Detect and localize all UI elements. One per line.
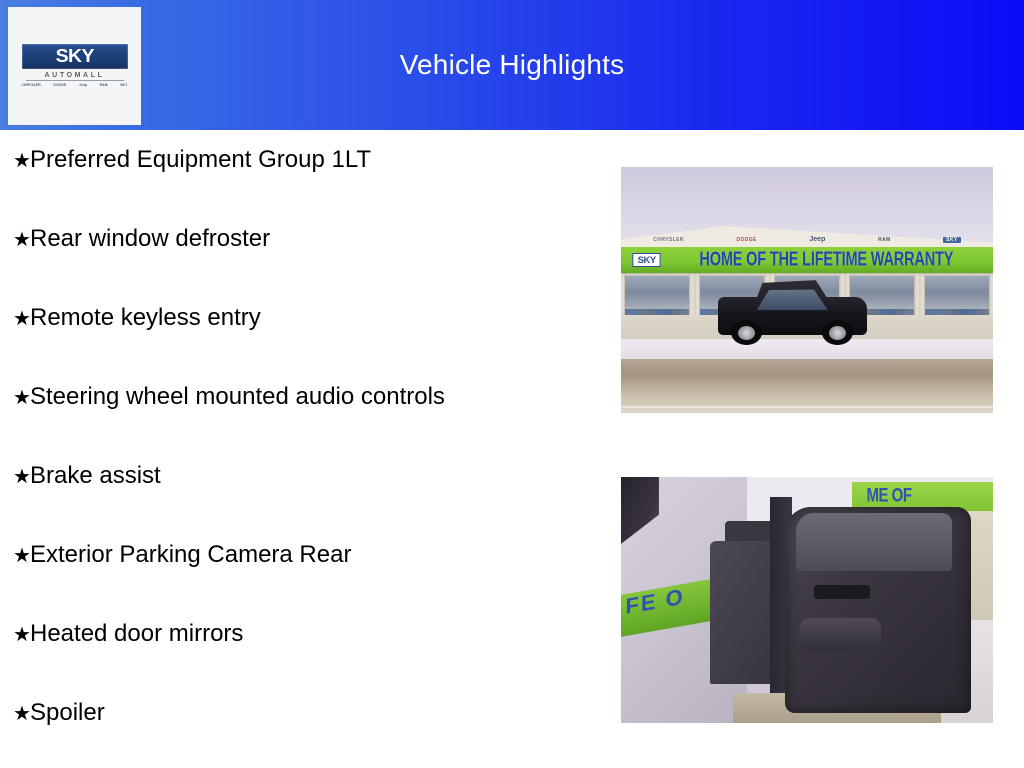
photo-warranty-banner: SKY HOME OF THE LIFETIME WARRANTY: [621, 247, 993, 273]
page-title: Vehicle Highlights: [0, 48, 1024, 82]
showroom-window: [624, 275, 690, 314]
photo-brand-dodge: DODGE: [736, 237, 756, 243]
interior-open-rear-door: [785, 507, 971, 714]
list-item: ★ Rear window defroster: [0, 225, 600, 304]
star-icon: ★: [0, 700, 30, 728]
logo-brand-chrysler: CHRYSLER: [22, 83, 41, 88]
list-item-label: Heated door mirrors: [30, 620, 243, 648]
highlights-list: ★ Preferred Equipment Group 1LT ★ Rear w…: [0, 146, 600, 768]
photo-brand-ram: RAM: [878, 237, 891, 243]
logo-subtitle: AUTOMALL: [22, 72, 128, 79]
logo-sky-text: SKY: [55, 46, 93, 67]
interior-door-handle: [814, 585, 870, 599]
list-item: ★ Steering wheel mounted audio controls: [0, 383, 600, 462]
photo-brand-row: CHRYSLER DODGE Jeep RAM SKY: [621, 232, 993, 247]
star-icon: ★: [0, 621, 30, 649]
vehicle-wheel-front: [731, 320, 762, 345]
list-item: ★ Brake assist: [0, 462, 600, 541]
list-item-label: Steering wheel mounted audio controls: [30, 383, 445, 411]
logo-brand-jeep: Jeep: [79, 83, 87, 88]
banner-sky-logo: SKY: [632, 253, 661, 267]
list-item: ★ Heated door mirrors: [0, 620, 600, 699]
vehicle-photo-interior: ME OF FE O: [621, 477, 993, 723]
banner-text: HOME OF THE LIFETIME WARRANTY: [665, 248, 988, 271]
interior-banner-far-text: ME OF: [867, 484, 912, 506]
photo-brand-chrysler: CHRYSLER: [653, 237, 684, 243]
list-item-label: Rear window defroster: [30, 225, 270, 253]
logo-brand-sky: SKY: [120, 83, 127, 88]
list-item: ★ Remote keyless entry: [0, 304, 600, 383]
star-icon: ★: [0, 463, 30, 491]
logo-brand-ram: RAM: [100, 83, 108, 88]
logo-brand-strip: CHRYSLER DODGE Jeep RAM SKY: [22, 83, 128, 88]
list-item-label: Remote keyless entry: [30, 304, 261, 332]
showroom-window: [924, 275, 990, 314]
vehicle-photo-exterior: CHRYSLER DODGE Jeep RAM SKY SKY HOME OF …: [621, 167, 993, 413]
vehicle-wheel-rear: [822, 320, 853, 345]
dealer-logo: SKY AUTOMALL CHRYSLER DODGE Jeep RAM SKY: [8, 7, 141, 125]
photo-brand-sky: SKY: [943, 237, 960, 243]
star-icon: ★: [0, 542, 30, 570]
interior-door-armrest: [800, 618, 882, 651]
list-item-label: Exterior Parking Camera Rear: [30, 541, 351, 569]
logo-sky-badge: SKY: [22, 44, 128, 69]
star-icon: ★: [0, 226, 30, 254]
slide-canvas: Vehicle Highlights SKY AUTOMALL CHRYSLER…: [0, 0, 1024, 768]
interior-body-reflection: [621, 477, 659, 561]
list-item-label: Spoiler: [30, 699, 105, 727]
list-item-label: Brake assist: [30, 462, 161, 490]
photo-lot-line: [621, 406, 993, 408]
photo-vehicle: [718, 280, 867, 346]
list-item: ★ Exterior Parking Camera Rear: [0, 541, 600, 620]
list-item: ★ Spoiler: [0, 699, 600, 768]
interior-door-window: [796, 513, 952, 571]
logo-brand-dodge: DODGE: [53, 83, 66, 88]
photo-parking-lot: [621, 359, 993, 413]
star-icon: ★: [0, 305, 30, 333]
list-item: ★ Preferred Equipment Group 1LT: [0, 146, 600, 225]
logo-divider: [26, 80, 124, 81]
photo-brand-jeep: Jeep: [809, 236, 825, 243]
star-icon: ★: [0, 384, 30, 412]
list-item-label: Preferred Equipment Group 1LT: [30, 146, 371, 174]
star-icon: ★: [0, 147, 30, 175]
slide-header: Vehicle Highlights SKY AUTOMALL CHRYSLER…: [0, 0, 1024, 130]
